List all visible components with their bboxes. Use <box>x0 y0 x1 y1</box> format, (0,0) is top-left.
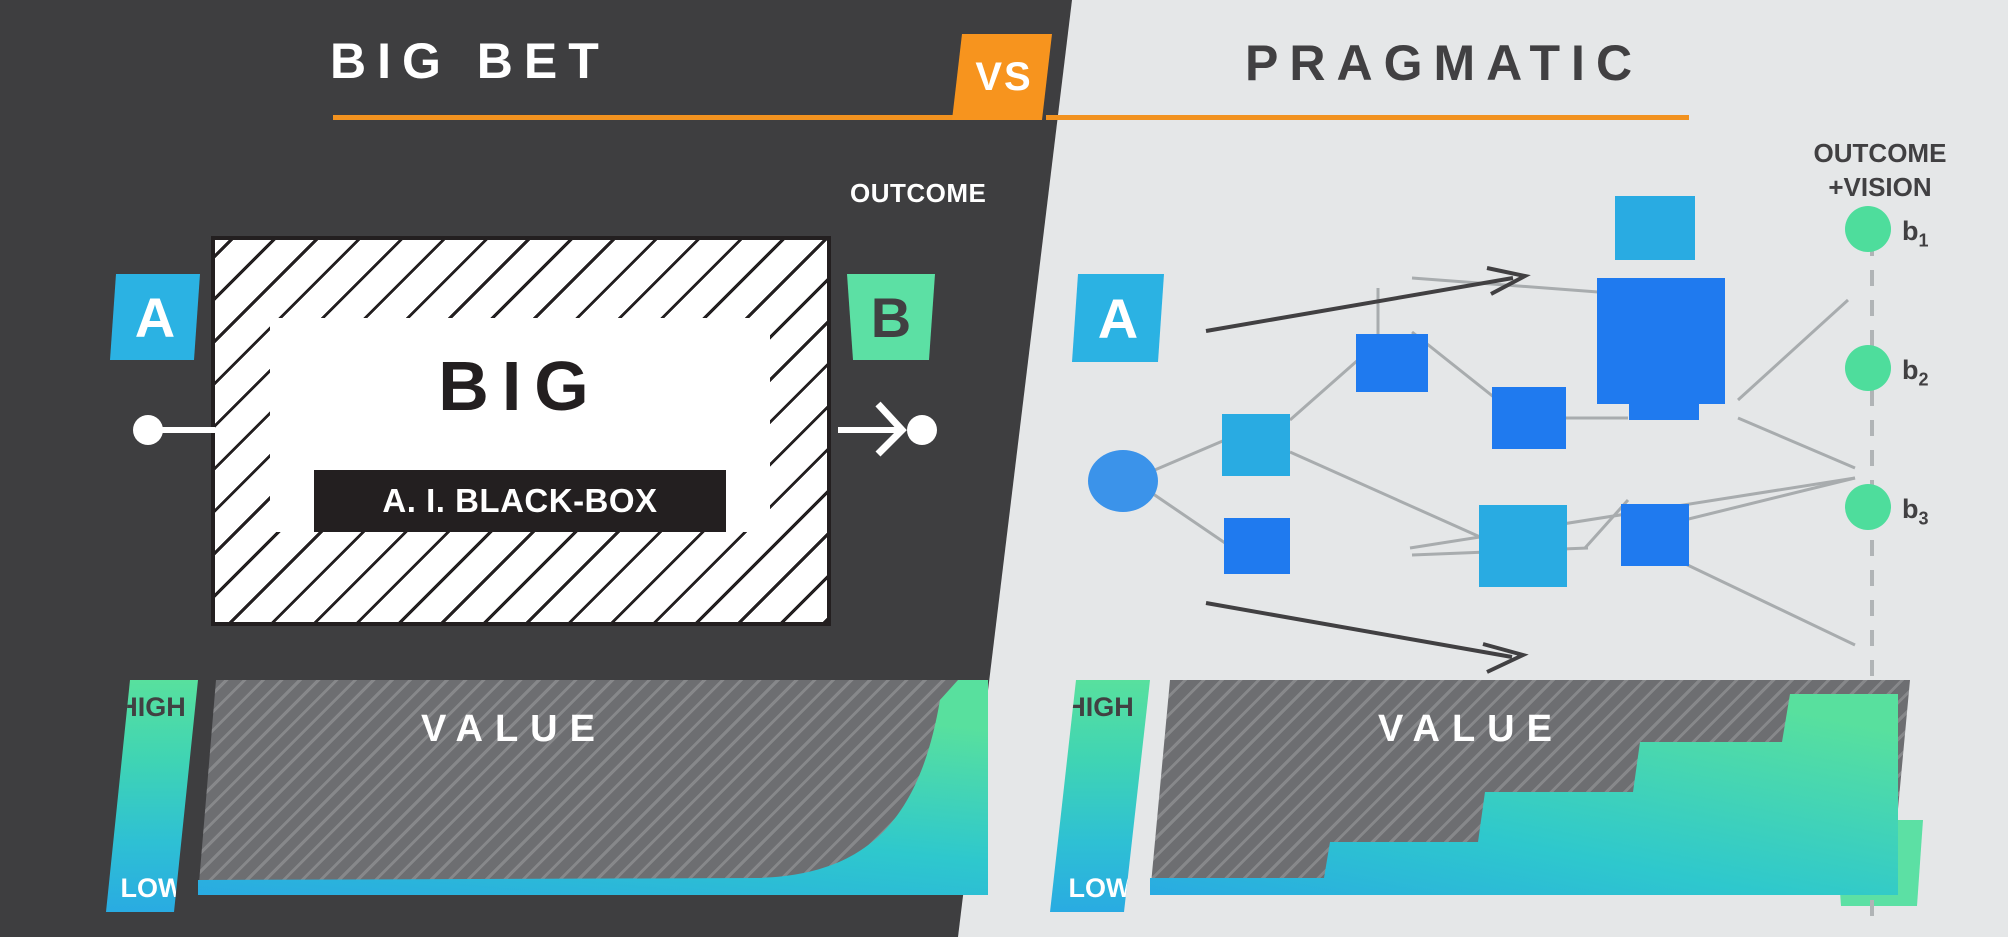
network-node-7 <box>1621 504 1689 566</box>
right-outcome-label: OUTCOME +VISION <box>1790 136 1970 204</box>
outcome-node-b1-label: b1 <box>1902 216 1929 251</box>
left-output-dot <box>907 415 937 445</box>
left-input-line <box>160 427 215 433</box>
network-node-9 <box>1597 278 1725 404</box>
right-panel-title: PRAGMATIC <box>1245 34 1643 92</box>
ai-black-box: BIG A. I. BLACK-BOX <box>211 236 831 626</box>
vs-badge-label: VS <box>975 55 1032 100</box>
infographic-canvas: BIG BET PRAGMATIC VS OUTCOME A B BIG A. … <box>0 0 2008 937</box>
lower-trend-arrow-icon <box>1206 603 1523 672</box>
outcome-node-b3-letter: b <box>1902 494 1919 524</box>
right-badge-a: A <box>1072 274 1164 362</box>
right-legend-high-label: HIGH <box>1050 692 1150 723</box>
outcome-node-b2-label: b2 <box>1902 355 1929 390</box>
network-node-1 <box>1222 414 1290 476</box>
right-chart-legend-bar: HIGH LOW <box>1050 680 1150 912</box>
outcome-node-b2-letter: b <box>1902 355 1919 385</box>
outcome-node-b1-sub: 1 <box>1919 230 1929 250</box>
outcome-node-b2 <box>1845 345 1891 391</box>
right-outcome-line1: OUTCOME <box>1790 136 1970 170</box>
outcome-node-b3-label: b3 <box>1902 494 1929 529</box>
right-value-chart: HIGH LOW VALUE <box>1050 680 1910 920</box>
right-chart-value-word: VALUE <box>1378 708 1564 751</box>
black-box-subtitle: A. I. BLACK-BOX <box>314 470 726 532</box>
left-title-underline <box>333 115 966 120</box>
network-node-4 <box>1492 387 1566 449</box>
left-chart-value-word: VALUE <box>421 708 607 751</box>
left-chart-legend-bar: HIGH LOW <box>106 680 198 912</box>
upper-trend-arrow-icon <box>1206 268 1525 331</box>
network-node-8 <box>1615 196 1695 260</box>
left-output-line <box>838 427 900 433</box>
left-legend-high-label: HIGH <box>106 692 198 723</box>
network-start-node <box>1088 450 1158 512</box>
left-legend-low-label: LOW <box>106 873 198 904</box>
black-box-inner-panel: BIG A. I. BLACK-BOX <box>270 318 770 532</box>
right-title-underline <box>1046 115 1689 120</box>
left-badge-b: B <box>847 274 935 360</box>
left-badge-a: A <box>110 274 200 360</box>
network-node-3 <box>1356 334 1428 392</box>
right-legend-low-label: LOW <box>1050 873 1150 904</box>
outcome-node-b2-sub: 2 <box>1919 369 1929 389</box>
outcome-node-b1 <box>1845 206 1891 252</box>
left-outcome-label: OUTCOME <box>850 178 986 209</box>
right-outcome-line2: +VISION <box>1790 170 1970 204</box>
outcome-node-b3 <box>1845 484 1891 530</box>
vs-badge: VS <box>952 34 1052 120</box>
left-panel-title: BIG BET <box>330 32 610 90</box>
left-input-dot <box>133 415 163 445</box>
network-node-5 <box>1479 505 1567 587</box>
left-value-chart: HIGH LOW VALUE <box>106 680 886 920</box>
outcome-node-b3-sub: 3 <box>1919 508 1929 528</box>
outcome-node-b1-letter: b <box>1902 216 1919 246</box>
black-box-title: BIG <box>438 346 601 426</box>
network-node-2 <box>1224 518 1290 574</box>
